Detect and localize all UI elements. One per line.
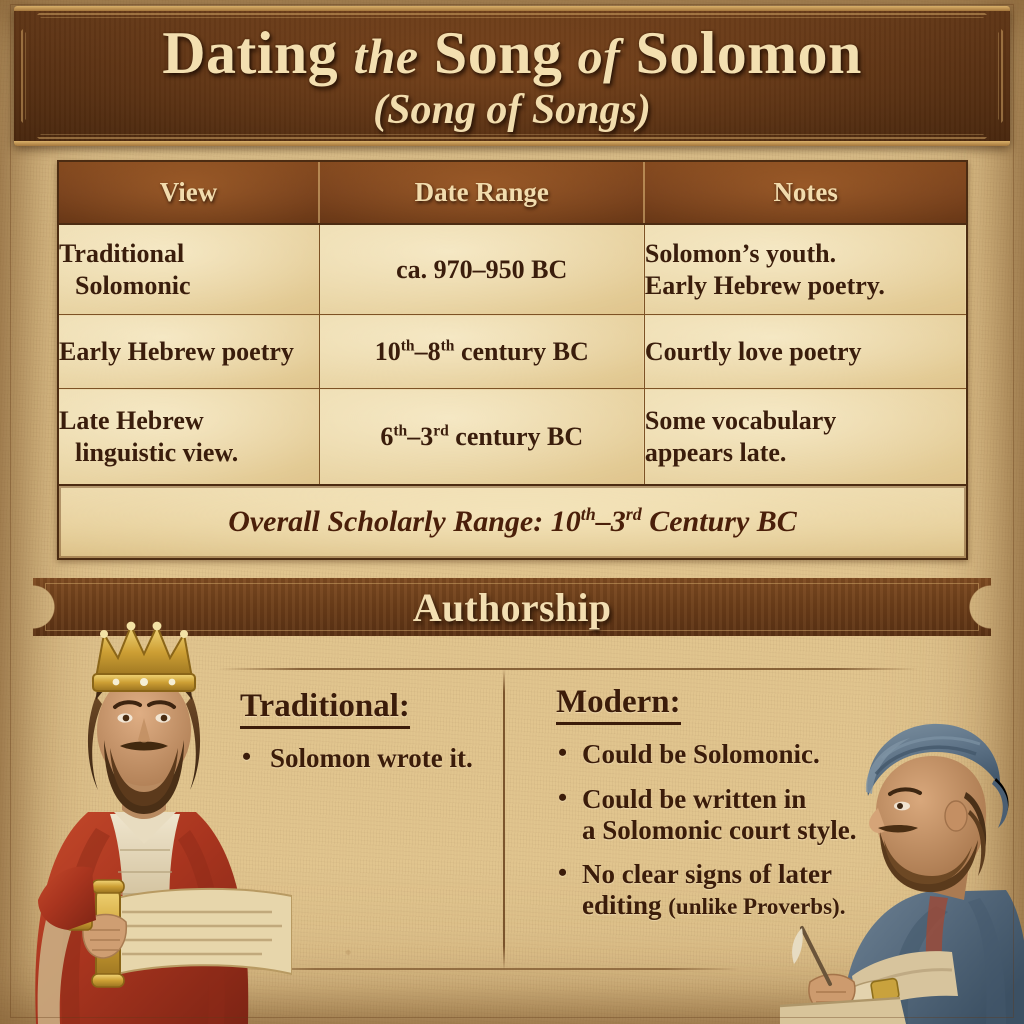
column-header-notes: Notes bbox=[644, 162, 966, 224]
column-header-view: View bbox=[59, 162, 319, 224]
cell-date-range: 10th–8th century BC bbox=[319, 315, 644, 389]
date-mid: –8 bbox=[415, 337, 441, 366]
title-part-of: of bbox=[578, 28, 620, 84]
page-subtitle: (Song of Songs) bbox=[14, 86, 1010, 134]
cell-date-range: 6th–3rd century BC bbox=[319, 389, 644, 485]
date-ordinal-1: th bbox=[393, 422, 407, 439]
cell-view: Late Hebrew linguistic view. bbox=[59, 389, 319, 485]
title-part-song: Song bbox=[419, 20, 578, 86]
view-line-1: Traditional bbox=[59, 238, 319, 270]
cell-notes: Courtly love poetry bbox=[644, 315, 966, 389]
title-part-the: the bbox=[353, 28, 418, 84]
authorship-top-divider bbox=[218, 668, 918, 670]
date-post: century BC bbox=[454, 337, 588, 366]
title-part-dating: Dating bbox=[162, 20, 353, 86]
authorship-bottom-divider bbox=[240, 968, 740, 970]
infographic-page: Dating the Song of Solomon (Song of Song… bbox=[0, 0, 1024, 1024]
summary-post: Century BC bbox=[642, 505, 797, 538]
summary-ordinal-1: th bbox=[581, 504, 596, 524]
cell-view: Traditional Solomonic bbox=[59, 224, 319, 315]
summary-pre: Overall Scholarly Range: 10 bbox=[228, 505, 581, 538]
scribe-illustration bbox=[780, 700, 1024, 1024]
notes-line-2: appears late. bbox=[645, 437, 966, 469]
table-header-row: View Date Range Notes bbox=[59, 162, 966, 224]
view-line-2: Solomonic bbox=[59, 270, 319, 302]
table-row: Traditional Solomonic ca. 970–950 BC Sol… bbox=[59, 224, 966, 315]
title-banner: Dating the Song of Solomon (Song of Song… bbox=[14, 6, 1010, 146]
table-row: Early Hebrew poetry 10th–8th century BC … bbox=[59, 315, 966, 389]
cell-view: Early Hebrew poetry bbox=[59, 315, 319, 389]
summary-ordinal-2: rd bbox=[626, 504, 642, 524]
date-mid: –3 bbox=[407, 422, 433, 451]
cell-notes: Some vocabulary appears late. bbox=[644, 389, 966, 485]
view-line-2: linguistic view. bbox=[59, 437, 319, 469]
banner-gold-rule-top bbox=[14, 6, 1010, 11]
view-line-1: Late Hebrew bbox=[59, 405, 319, 437]
notes-line-1: Solomon’s youth. bbox=[645, 239, 836, 268]
king-solomon-illustration bbox=[0, 600, 292, 1024]
overall-scholarly-range: Overall Scholarly Range: 10th–3rd Centur… bbox=[59, 485, 966, 558]
table-summary-row: Overall Scholarly Range: 10th–3rd Centur… bbox=[59, 485, 966, 558]
date-ordinal-2: rd bbox=[433, 422, 449, 439]
date-ordinal-1: th bbox=[401, 337, 415, 354]
date-pre: 6 bbox=[380, 422, 393, 451]
table-row: Late Hebrew linguistic view. 6th–3rd cen… bbox=[59, 389, 966, 485]
bullet-text-line-2-main: editing bbox=[582, 890, 668, 920]
notes-line-2: Early Hebrew poetry. bbox=[645, 270, 966, 302]
column-header-date-range: Date Range bbox=[319, 162, 644, 224]
notes-line-1: Some vocabulary bbox=[645, 406, 836, 435]
bullet-text: Solomon wrote it. bbox=[270, 743, 473, 773]
cell-notes: Solomon’s youth. Early Hebrew poetry. bbox=[644, 224, 966, 315]
date-ordinal-2: th bbox=[441, 337, 455, 354]
date-post: century BC bbox=[449, 422, 583, 451]
cell-date-range: ca. 970–950 BC bbox=[319, 224, 644, 315]
title-part-solomon: Solomon bbox=[620, 20, 862, 86]
banner-gold-rule-bottom bbox=[14, 141, 1010, 146]
page-title: Dating the Song of Solomon bbox=[14, 22, 1010, 84]
dating-views-table: View Date Range Notes Traditional Solomo… bbox=[57, 160, 968, 560]
authorship-column-divider bbox=[503, 668, 505, 970]
date-pre: 10 bbox=[375, 337, 401, 366]
summary-mid: –3 bbox=[596, 505, 626, 538]
modern-heading: Modern: bbox=[556, 684, 681, 725]
